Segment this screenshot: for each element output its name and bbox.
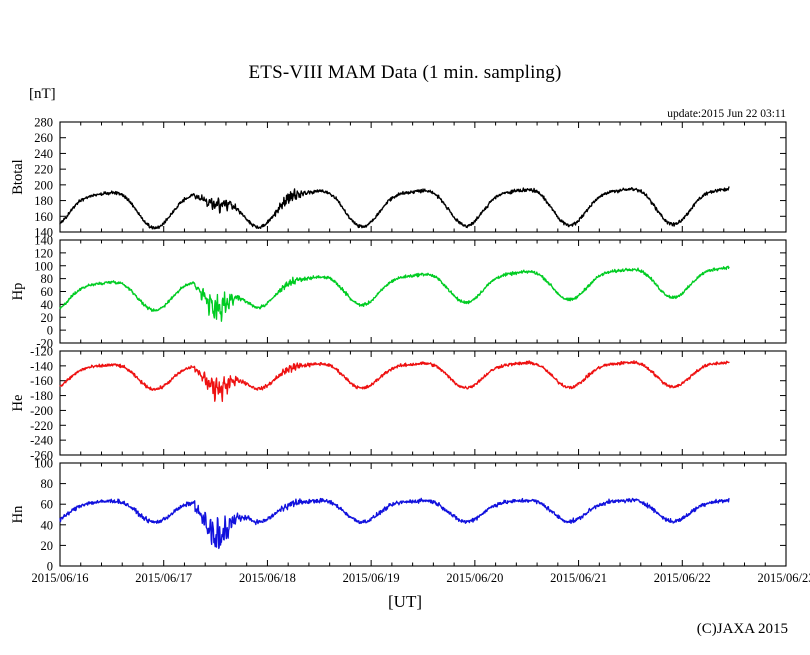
panel-frame <box>60 240 786 343</box>
panel-he: -260-240-220-200-180-160-140-120He <box>10 345 786 463</box>
update-timestamp: update:2015 Jun 22 03:11 <box>667 108 786 120</box>
x-tick-label: 2015/06/21 <box>550 571 607 585</box>
y-tick-label: 200 <box>34 178 53 192</box>
y-tick-label: 180 <box>34 194 53 208</box>
y-tick-label: 80 <box>41 477 54 491</box>
series-btotal <box>60 187 729 229</box>
x-axis-tick-labels: 2015/06/162015/06/172015/06/182015/06/19… <box>32 571 810 585</box>
y-tick-label: 60 <box>41 285 54 299</box>
x-tick-label: 2015/06/16 <box>32 571 89 585</box>
y-tick-label: 260 <box>34 131 53 145</box>
x-tick-label: 2015/06/20 <box>446 571 503 585</box>
y-tick-label: 160 <box>34 210 53 224</box>
x-axis-title: [UT] <box>0 592 810 612</box>
y-tick-label: 280 <box>34 116 53 130</box>
y-tick-label: 20 <box>41 539 54 553</box>
y-axis-label-hp: Hp <box>10 283 26 301</box>
y-tick-label: 140 <box>34 234 53 248</box>
y-tick-label: -200 <box>30 404 53 418</box>
x-tick-label: 2015/06/17 <box>135 571 192 585</box>
y-tick-label: -240 <box>30 434 53 448</box>
panel-btotal: 140160180200220240260280Btotal <box>10 116 786 240</box>
y-axis-label-hn: Hn <box>10 505 26 523</box>
panel-frame <box>60 351 786 455</box>
x-tick-label: 2015/06/19 <box>343 571 400 585</box>
y-axis-label-he: He <box>10 395 26 412</box>
series-hn <box>60 498 729 548</box>
panel-frame <box>60 122 786 232</box>
series-hp <box>60 266 729 321</box>
y-tick-label: 120 <box>34 246 53 260</box>
y-tick-label: -140 <box>30 359 53 373</box>
y-tick-label: 100 <box>34 457 53 471</box>
chart-canvas: 140160180200220240260280Btotal-200204060… <box>0 0 810 655</box>
y-tick-label: 20 <box>41 311 54 325</box>
panel-frame <box>60 463 786 566</box>
magnetometer-chart: ETS-VIII MAM Data (1 min. sampling) [nT]… <box>0 0 810 655</box>
x-tick-label: 2015/06/18 <box>239 571 296 585</box>
y-tick-label: 60 <box>41 498 54 512</box>
y-tick-label: -180 <box>30 389 53 403</box>
series-he <box>60 361 729 402</box>
y-tick-label: 220 <box>34 163 53 177</box>
y-tick-label: 40 <box>41 298 54 312</box>
copyright-label: (C)JAXA 2015 <box>697 621 788 638</box>
y-tick-label: 80 <box>41 272 54 286</box>
panel-hp: -20020406080100120140Hp <box>10 234 786 351</box>
y-tick-label: 40 <box>41 518 54 532</box>
y-tick-label: -220 <box>30 419 53 433</box>
x-tick-label: 2015/06/23 <box>758 571 810 585</box>
y-tick-label: 100 <box>34 259 53 273</box>
y-tick-label: 240 <box>34 147 53 161</box>
page-title: ETS-VIII MAM Data (1 min. sampling) <box>0 62 810 84</box>
y-tick-label: -120 <box>30 345 53 359</box>
y-tick-label: 0 <box>47 324 53 338</box>
x-tick-label: 2015/06/22 <box>654 571 711 585</box>
y-axis-label-btotal: Btotal <box>10 159 26 194</box>
y-tick-label: -160 <box>30 374 53 388</box>
unit-label: [nT] <box>29 86 56 103</box>
panel-hn: 020406080100Hn <box>10 457 786 574</box>
